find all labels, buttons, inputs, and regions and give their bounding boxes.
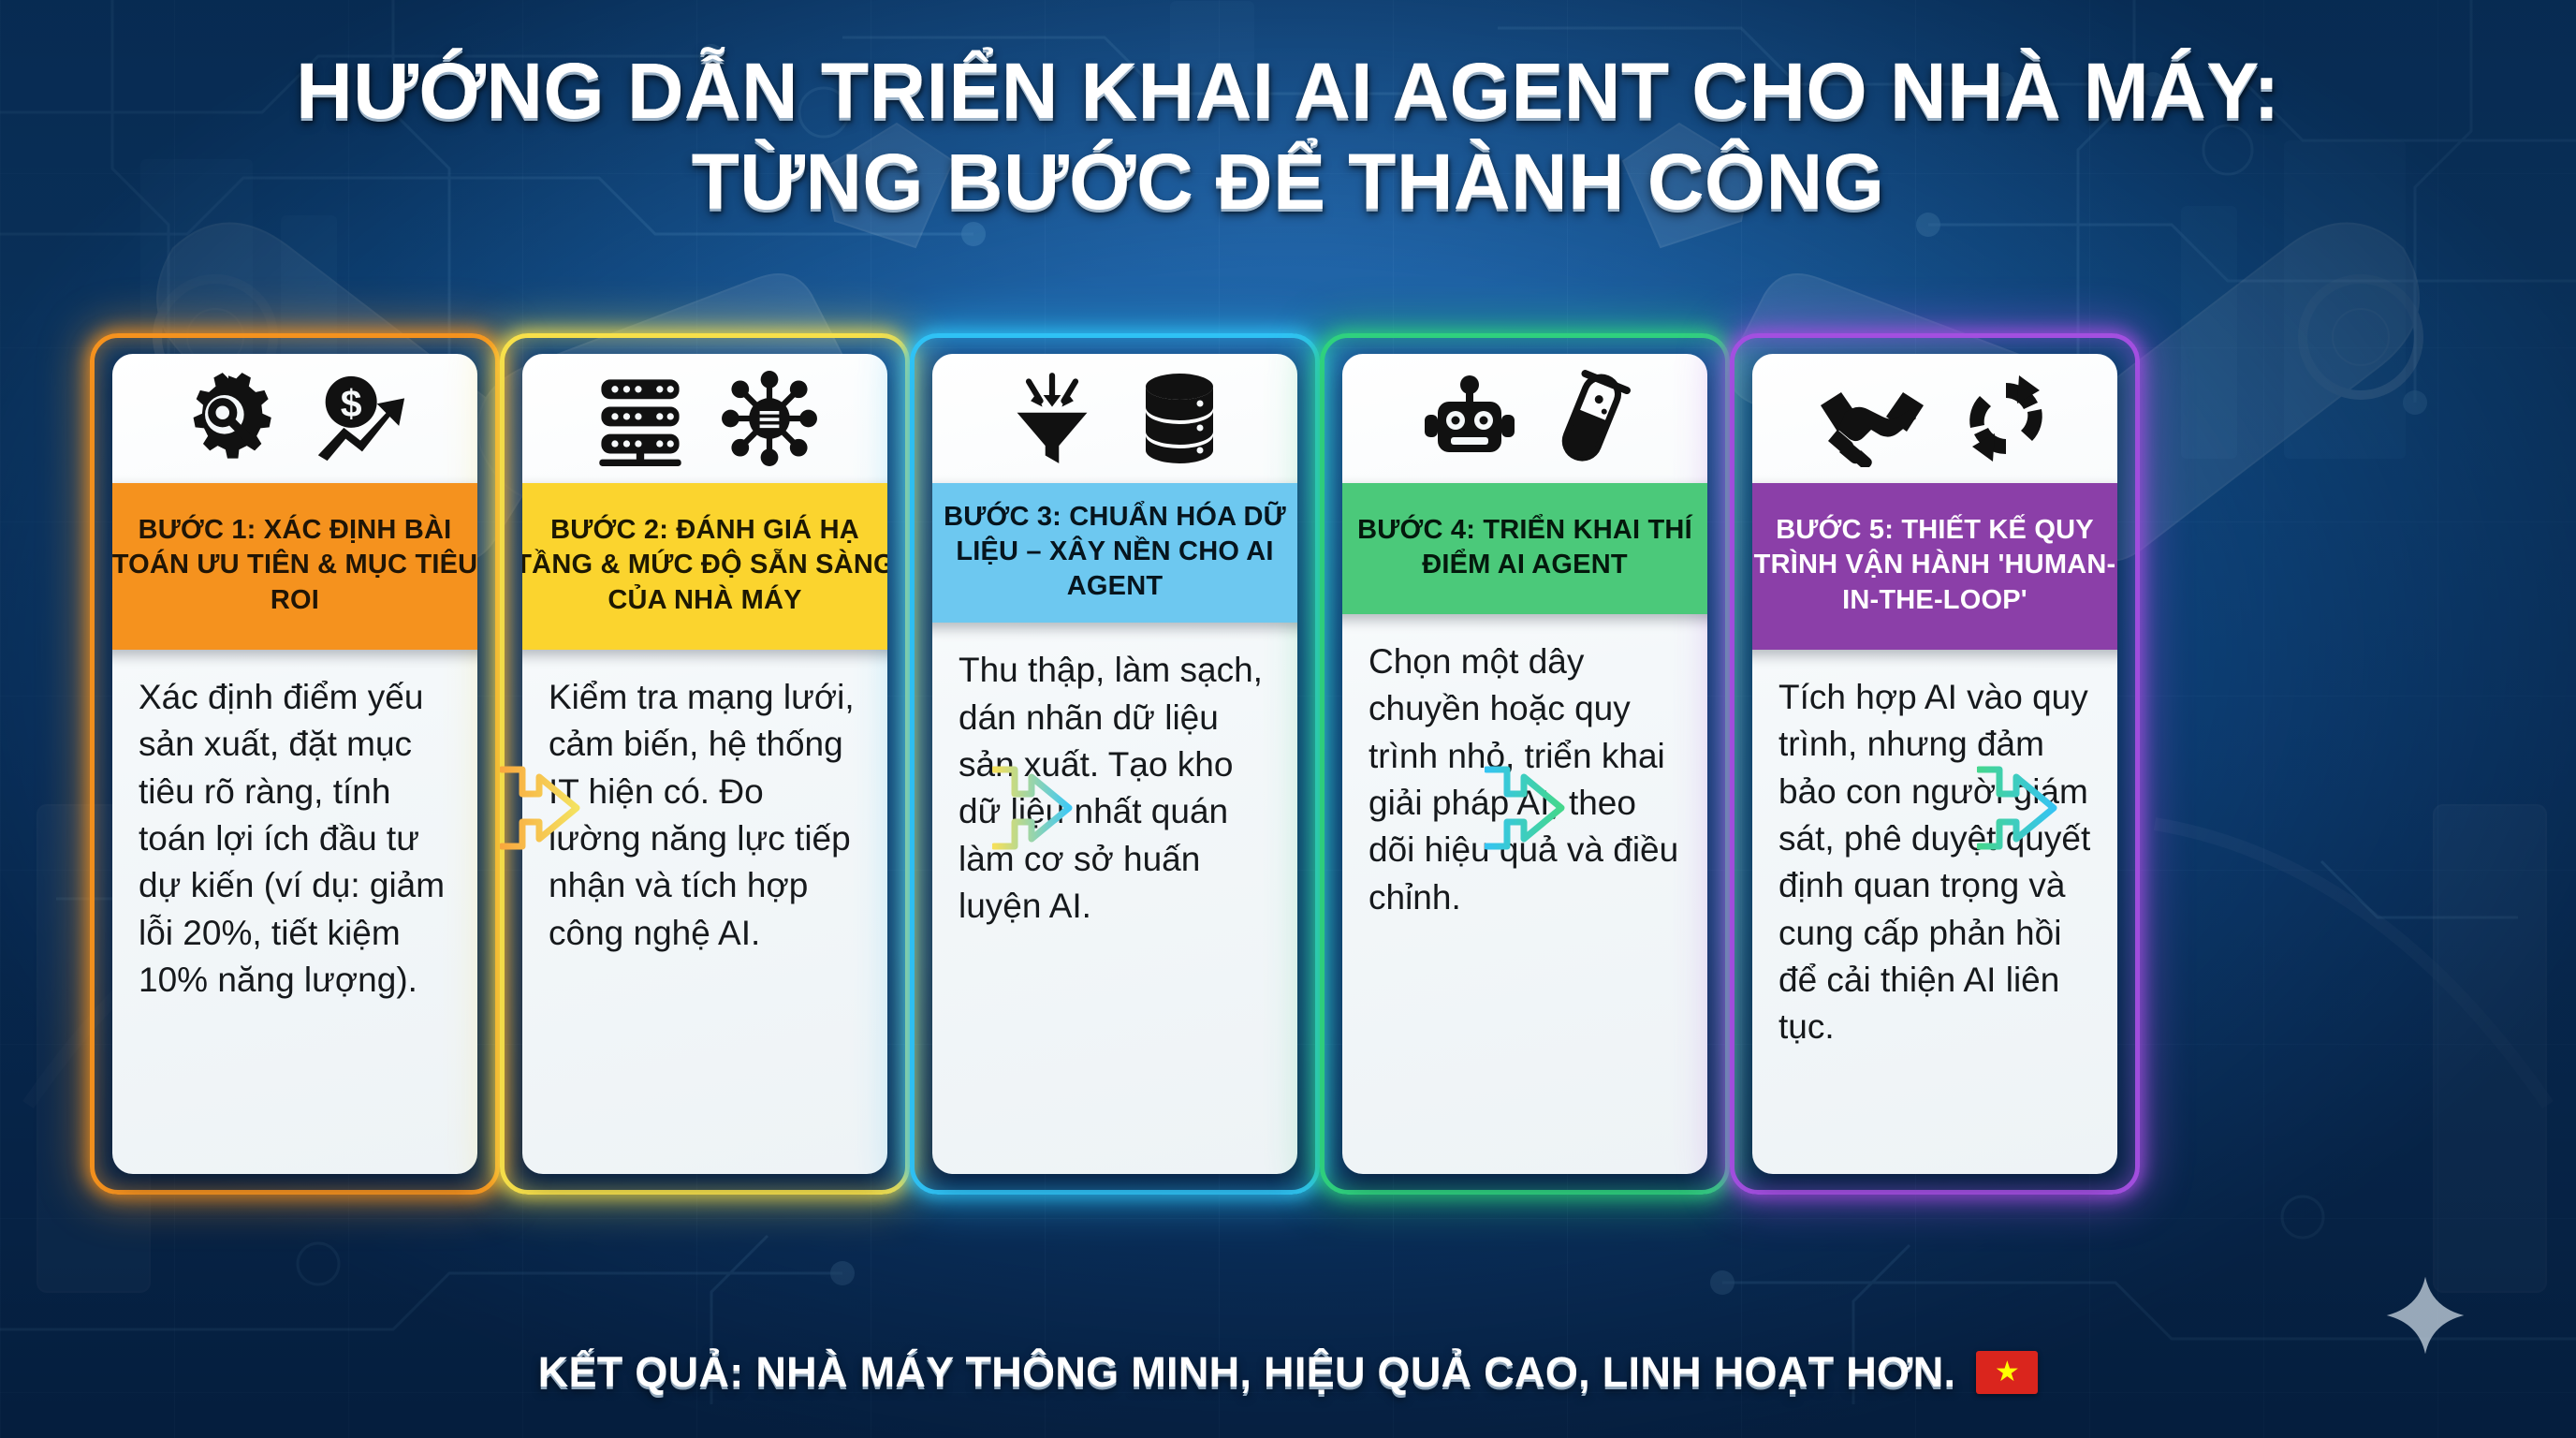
title-line-1: HƯỚNG DẪN TRIỂN KHAI AI AGENT CHO NHÀ MÁ… (0, 49, 2576, 134)
svg-text:$: $ (341, 382, 362, 425)
test-tube-icon (1552, 370, 1631, 467)
sparkle-star-icon (2385, 1275, 2466, 1356)
database-icon (1133, 370, 1226, 467)
refresh-cycle-icon (1959, 372, 2053, 465)
dollar-growth-arrow-icon: $ (309, 370, 410, 467)
server-rack-icon (592, 370, 689, 467)
handshake-icon (1817, 370, 1927, 467)
robot-head-icon (1419, 370, 1520, 467)
step-4-body: Chọn một dây chuyền hoặc quy trình nhỏ, … (1342, 614, 1707, 1174)
steps-row: $ BƯỚC 1: XÁC ĐỊNH BÀI TOÁN ƯU TIÊN & MỤ… (90, 333, 2486, 1195)
step-1-body: Xác định điểm yếu sản xuất, đặt mục tiêu… (112, 650, 477, 1174)
step-4-header: BƯỚC 4: TRIỂN KHAI THÍ ĐIỂM AI AGENT (1342, 483, 1707, 614)
arrow-step1-step2 (500, 756, 580, 859)
vietnam-flag-star: ★ (1995, 1358, 2020, 1387)
arrow-step3-step4 (1485, 756, 1565, 859)
step-card-5[interactable]: BƯỚC 5: THIẾT KẾ QUY TRÌNH VẬN HÀNH 'HUM… (1730, 333, 2140, 1195)
network-hub-icon (721, 370, 818, 467)
footer-result-banner: KẾT QUẢ: NHÀ MÁY THÔNG MINH, HIỆU QUẢ CA… (0, 1348, 2576, 1397)
gear-search-icon (180, 370, 277, 467)
step-5-icons (1752, 354, 2117, 483)
data-funnel-icon (1003, 370, 1101, 467)
vietnam-flag-icon: ★ (1976, 1351, 2038, 1394)
step-2-header: BƯỚC 2: ĐÁNH GIÁ HẠ TẦNG & MỨC ĐỘ SẴN SÀ… (522, 483, 887, 650)
step-card-5-inner: BƯỚC 5: THIẾT KẾ QUY TRÌNH VẬN HÀNH 'HUM… (1752, 354, 2117, 1174)
step-card-3[interactable]: BƯỚC 3: CHUẨN HÓA DỮ LIỆU – XÂY NỀN CHO … (910, 333, 1320, 1195)
step-3-body: Thu thập, làm sạch, dán nhãn dữ liệu sản… (932, 623, 1297, 1174)
step-card-1-inner: $ BƯỚC 1: XÁC ĐỊNH BÀI TOÁN ƯU TIÊN & MỤ… (112, 354, 477, 1174)
step-2-icons (522, 354, 887, 483)
step-4-icons (1342, 354, 1707, 483)
arrow-step2-step3 (992, 756, 1073, 859)
step-5-body: Tích hợp AI vào quy trình, nhưng đảm bảo… (1752, 650, 2117, 1174)
step-card-3-inner: BƯỚC 3: CHUẨN HÓA DỮ LIỆU – XÂY NỀN CHO … (932, 354, 1297, 1174)
arrow-step4-step5 (1977, 756, 2057, 859)
step-card-1[interactable]: $ BƯỚC 1: XÁC ĐỊNH BÀI TOÁN ƯU TIÊN & MỤ… (90, 333, 500, 1195)
footer-text: KẾT QUẢ: NHÀ MÁY THÔNG MINH, HIỆU QUẢ CA… (538, 1348, 1956, 1397)
title-line-2: TỪNG BƯỚC ĐỂ THÀNH CÔNG (0, 139, 2576, 225)
page-title: HƯỚNG DẪN TRIỂN KHAI AI AGENT CHO NHÀ MÁ… (0, 49, 2576, 224)
step-3-header: BƯỚC 3: CHUẨN HÓA DỮ LIỆU – XÂY NỀN CHO … (932, 483, 1297, 623)
step-5-header: BƯỚC 5: THIẾT KẾ QUY TRÌNH VẬN HÀNH 'HUM… (1752, 483, 2117, 650)
step-2-body: Kiểm tra mạng lưới, cảm biến, hệ thống I… (522, 650, 887, 1174)
step-3-icons (932, 354, 1297, 483)
infographic-canvas: HƯỚNG DẪN TRIỂN KHAI AI AGENT CHO NHÀ MÁ… (0, 0, 2576, 1438)
step-1-header: BƯỚC 1: XÁC ĐỊNH BÀI TOÁN ƯU TIÊN & MỤC … (112, 483, 477, 650)
step-1-icons: $ (112, 354, 477, 483)
